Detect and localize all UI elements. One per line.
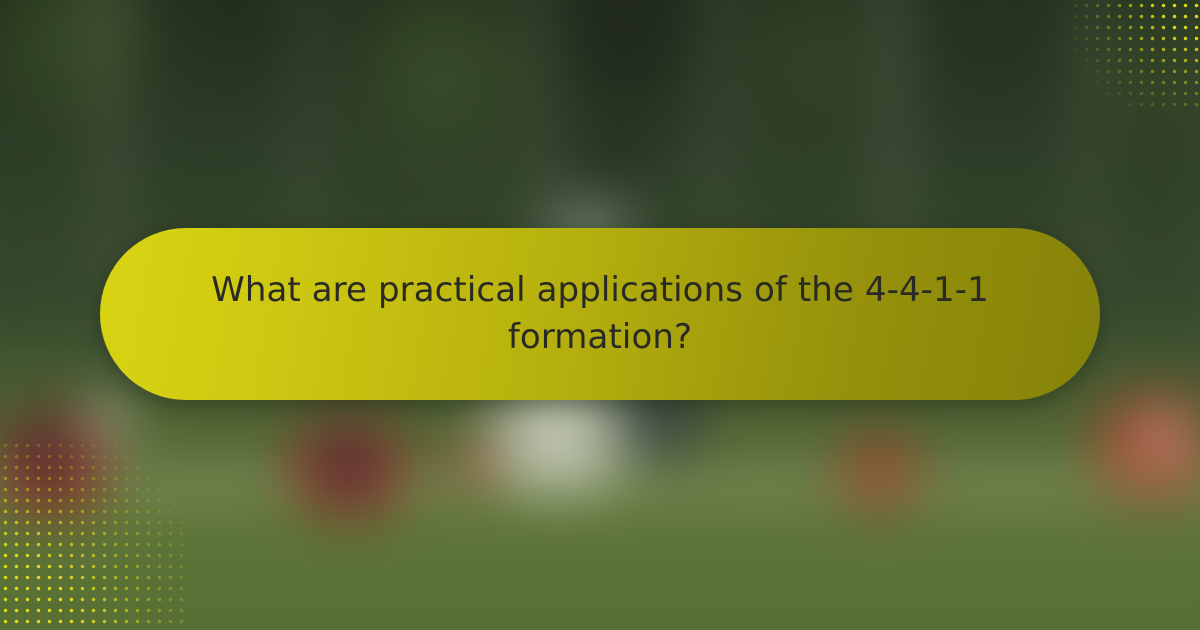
background-figure-mid-left-red — [283, 420, 413, 518]
background-figure-far-right-white — [1128, 405, 1198, 467]
question-pill: What are practical applications of the 4… — [100, 228, 1100, 400]
background-figure-right-red — [824, 428, 934, 520]
question-card-canvas: What are practical applications of the 4… — [0, 0, 1200, 630]
background-figure-centre-ball — [442, 435, 508, 493]
background-figure-left-white — [72, 390, 142, 452]
background-head-centre-dark — [587, 135, 647, 191]
question-text: What are practical applications of the 4… — [205, 267, 995, 361]
